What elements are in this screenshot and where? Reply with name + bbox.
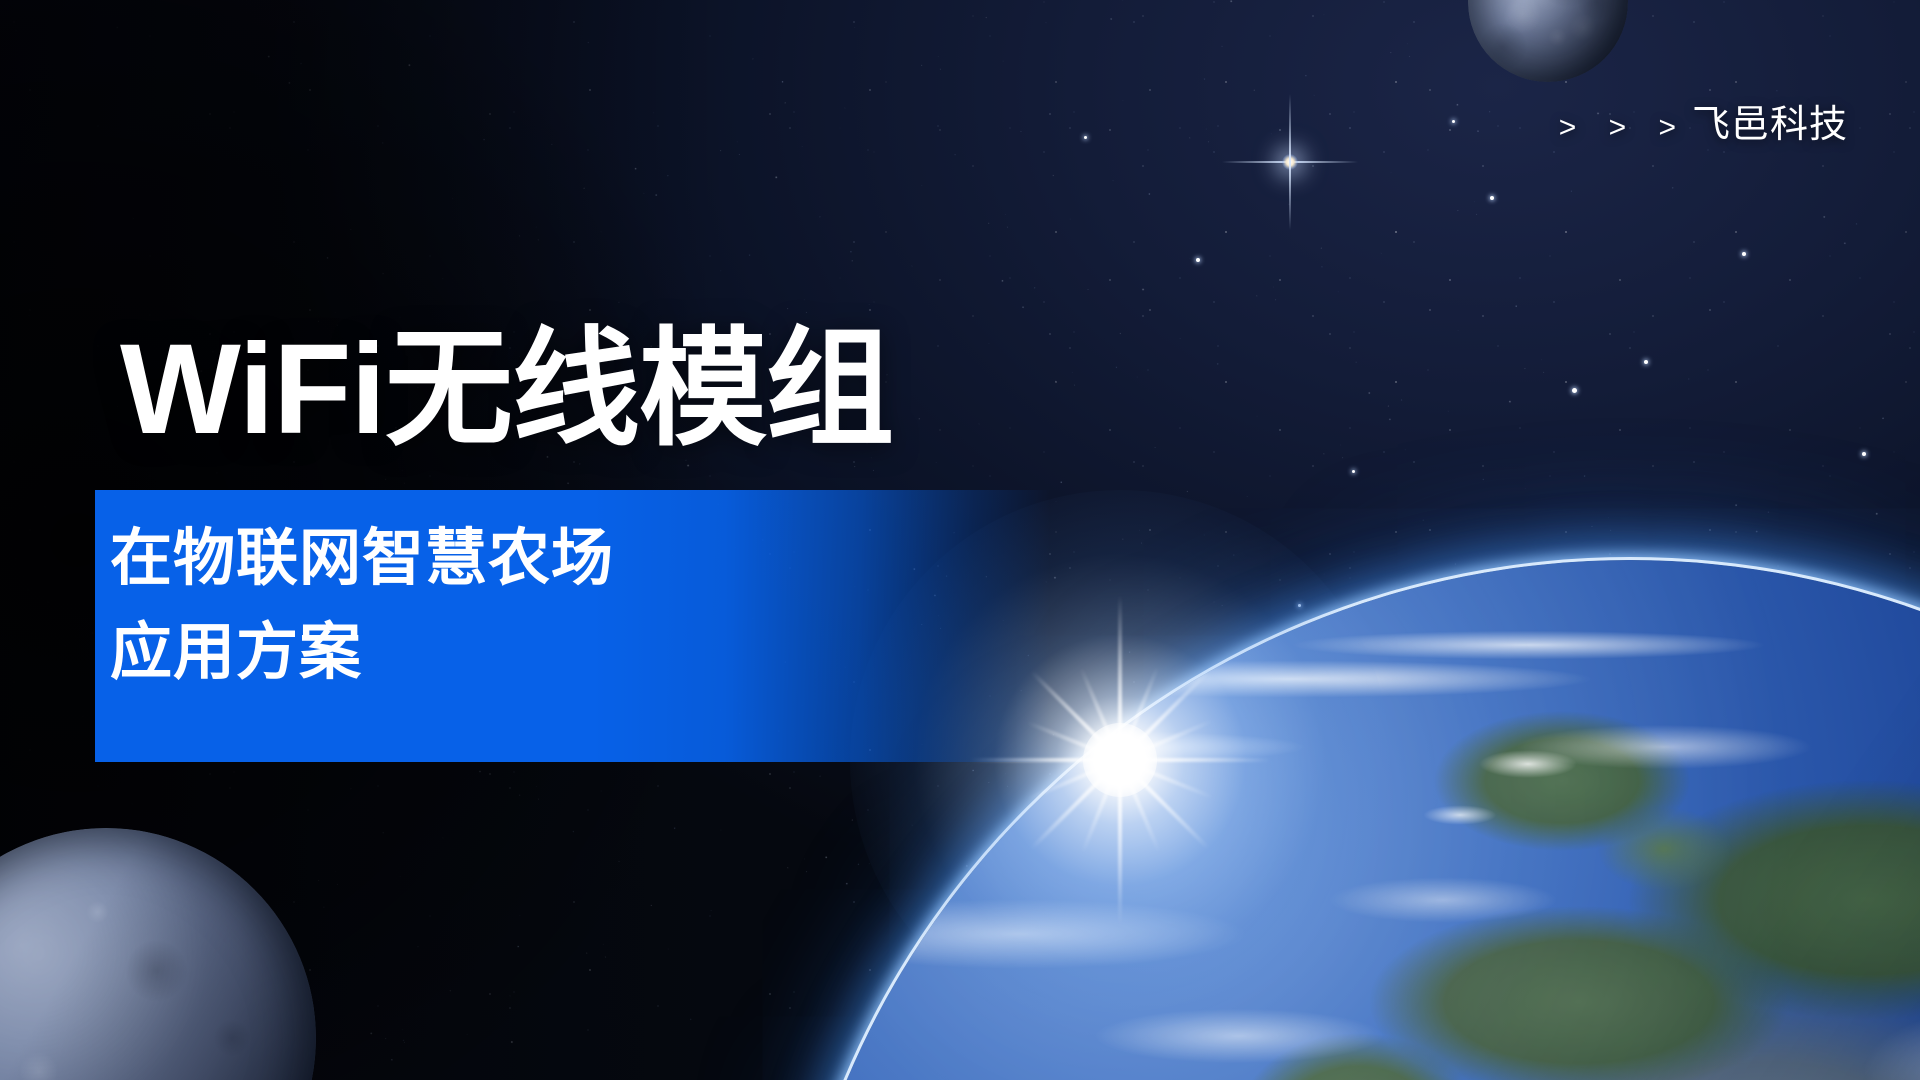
subtitle-text: 在物联网智慧农场 应用方案 [110, 512, 614, 700]
star-icon [1452, 120, 1455, 123]
star-icon [1490, 196, 1494, 200]
star-icon [1742, 252, 1746, 256]
slide-canvas: > > > 飞邑科技 WiFi无线模组 在物联网智慧农场 应用方案 [0, 0, 1920, 1080]
chevron-right-icon: > > > [1559, 113, 1688, 143]
subtitle-line-1: 在物联网智慧农场 [110, 512, 614, 606]
brand-logo[interactable]: > > > 飞邑科技 [1559, 106, 1848, 144]
star-icon [1084, 136, 1087, 139]
star-icon [1298, 604, 1301, 607]
subtitle-line-2: 应用方案 [110, 606, 614, 700]
star-icon [1644, 360, 1648, 364]
star-icon [1572, 388, 1577, 393]
star-icon [1352, 470, 1355, 473]
star-icon [1196, 258, 1200, 262]
brand-name: 飞邑科技 [1692, 106, 1848, 144]
star-icon [1862, 452, 1866, 456]
page-title: WiFi无线模组 [120, 318, 893, 461]
